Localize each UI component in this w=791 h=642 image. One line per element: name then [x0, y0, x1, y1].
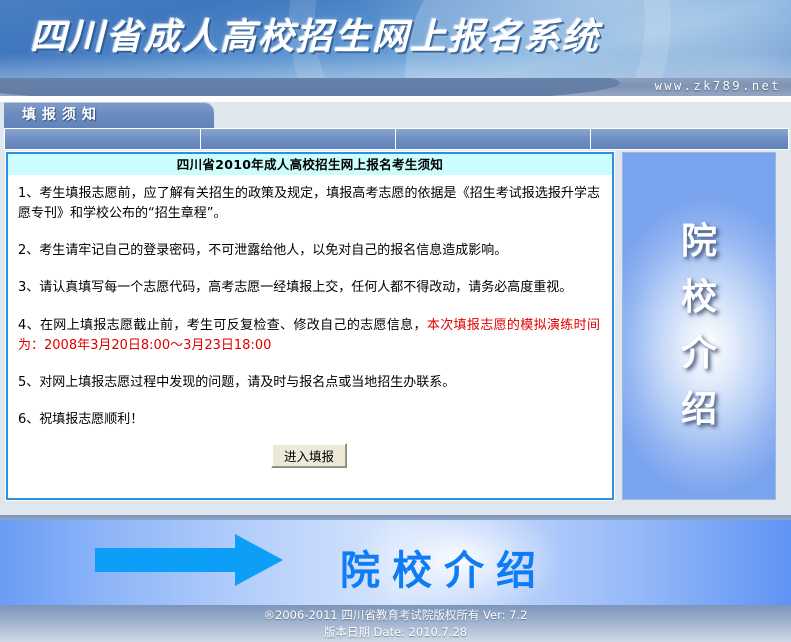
tab-filling-notice-label: 填报须知 — [4, 102, 214, 128]
notice-item-5: 5、对网上填报志愿过程中发现的问题，请及时与报名点或当地招生办联系。 — [18, 373, 600, 393]
notice-panel-body: 1、考生填报志愿前，应了解有关招生的政策及规定，填报高考志愿的依据是《招生考试报… — [8, 175, 612, 468]
nav-cell-1[interactable] — [4, 128, 200, 150]
nav-cell-2[interactable] — [200, 128, 395, 150]
notice-panel: 四川省2010年成人高校招生网上报名考生须知 1、考生填报志愿前，应了解有关招生… — [6, 152, 614, 500]
sidebar-promo-char-4: 绍 — [681, 392, 717, 428]
promo-banner-text: 院校介绍 — [340, 538, 548, 596]
notice-button-row: 进入填报 — [18, 443, 600, 468]
nav-cell-4[interactable] — [590, 128, 789, 150]
right-arrow-icon — [95, 548, 235, 572]
footer: ®2006-2011 四川省教育考试院版权所有 Ver: 7.2 版本日期 Da… — [0, 605, 791, 642]
site-title: 四川省成人高校招生网上报名系统 — [30, 8, 600, 60]
url-strip-swoosh — [0, 78, 620, 96]
tab-filling-notice[interactable]: 填报须知 — [4, 102, 214, 128]
notice-item-2: 2、考生请牢记自己的登录密码，不可泄露给他人，以免对自己的报名信息造成影响。 — [18, 241, 600, 261]
enter-filling-button[interactable]: 进入填报 — [271, 443, 347, 468]
sidebar-promo-inner: 院 校 介 绍 — [623, 153, 775, 499]
promo-banner-top-stripe — [0, 515, 791, 520]
site-header-banner: 四川省成人高校招生网上报名系统 — [0, 0, 791, 78]
tab-bar: 填报须知 — [0, 102, 791, 128]
notice-item-3: 3、请认真填写每一个志愿代码，高考志愿一经填报上交，任何人都不得改动，请务必高度… — [18, 278, 600, 298]
notice-item-4: 4、在网上填报志愿截止前，考生可反复检查、修改自己的志愿信息，本次填报志愿的模拟… — [18, 316, 600, 356]
sidebar-school-intro-promo[interactable]: 院 校 介 绍 — [622, 152, 776, 500]
nav-cell-3[interactable] — [395, 128, 590, 150]
notice-item-4-prefix: 4、在网上填报志愿截止前，考生可反复检查、修改自己的志愿信息， — [18, 318, 427, 333]
sidebar-promo-char-3: 介 — [681, 336, 717, 372]
sidebar-promo-char-2: 校 — [681, 280, 717, 316]
site-url: www.zk789.net — [655, 79, 781, 93]
footer-copyright: ®2006-2011 四川省教育考试院版权所有 Ver: 7.2 — [0, 605, 791, 624]
url-strip: www.zk789.net — [0, 78, 791, 96]
notice-item-1: 1、考生填报志愿前，应了解有关招生的政策及规定，填报高考志愿的依据是《招生考试报… — [18, 184, 600, 224]
page-root: 四川省成人高校招生网上报名系统 www.zk789.net 填报须知 四川省20… — [0, 0, 791, 642]
nav-bar — [4, 128, 789, 150]
main-area: 四川省2010年成人高校招生网上报名考生须知 1、考生填报志愿前，应了解有关招生… — [0, 150, 791, 515]
sidebar-promo-char-1: 院 — [681, 224, 717, 260]
footer-version-date: 版本日期 Date: 2010.7.28 — [0, 624, 791, 641]
notice-item-6: 6、祝填报志愿顺利！ — [18, 410, 600, 430]
notice-panel-heading: 四川省2010年成人高校招生网上报名考生须知 — [8, 154, 612, 175]
